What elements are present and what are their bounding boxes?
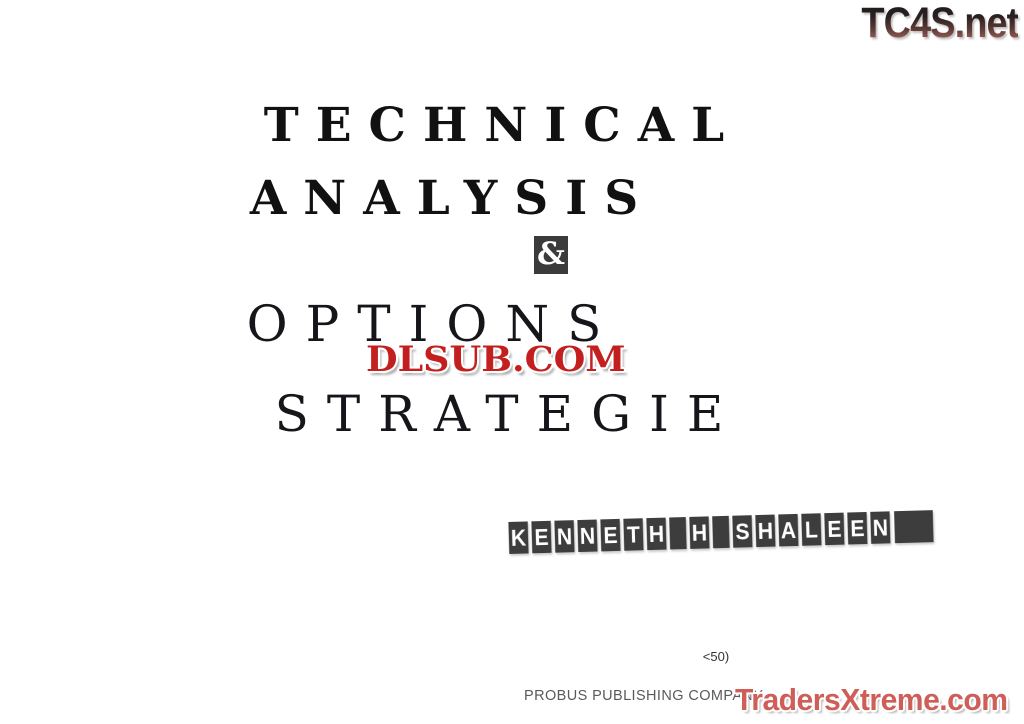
publisher-name: PROBUS PUBLISHING COMPANY xyxy=(524,688,763,704)
author-tile-letter: S xyxy=(732,515,752,548)
tc4s-watermark: TC4S.net xyxy=(861,2,1018,45)
cover-title-line-analysis: ANALYSIS xyxy=(0,171,956,226)
cover-title-line-technical: TECHNICAL xyxy=(0,98,1006,153)
cover-title-line-strategie: STRATEGIE xyxy=(0,385,1011,443)
author-tile-letter: A xyxy=(778,514,798,547)
book-cover-page: TC4S.net TECHNICAL ANALYSIS & OPTIONS DL… xyxy=(0,0,1024,724)
author-tile-letter: H xyxy=(646,518,666,551)
author-tile-letter: N xyxy=(577,520,597,553)
author-tile-letter: N xyxy=(870,511,890,544)
author-tile-letter: H xyxy=(689,516,709,549)
author-tile-spacer xyxy=(894,510,934,543)
author-tile-letter: L xyxy=(801,513,821,546)
page-mark: <50) xyxy=(204,649,1024,664)
ampersand-block: & xyxy=(534,236,568,274)
author-tile-letter: E xyxy=(531,521,551,554)
author-tile-letter: E xyxy=(600,519,620,552)
author-tile-letter: E xyxy=(824,513,844,546)
tradersxtreme-watermark: TradersXtreme.com xyxy=(735,684,1008,715)
author-tile-letter: H xyxy=(755,515,775,548)
dlsub-watermark: DLSUB.COM xyxy=(366,342,626,377)
author-tile-spacer xyxy=(669,517,686,549)
author-tile-letter: T xyxy=(623,518,643,551)
author-tile-letter: N xyxy=(554,520,574,553)
author-name-strip: KENNETHHSHALEEN xyxy=(508,510,936,554)
author-tile-letter: E xyxy=(847,512,867,545)
author-tile-letter: K xyxy=(508,521,528,554)
author-tile-spacer xyxy=(712,516,729,548)
